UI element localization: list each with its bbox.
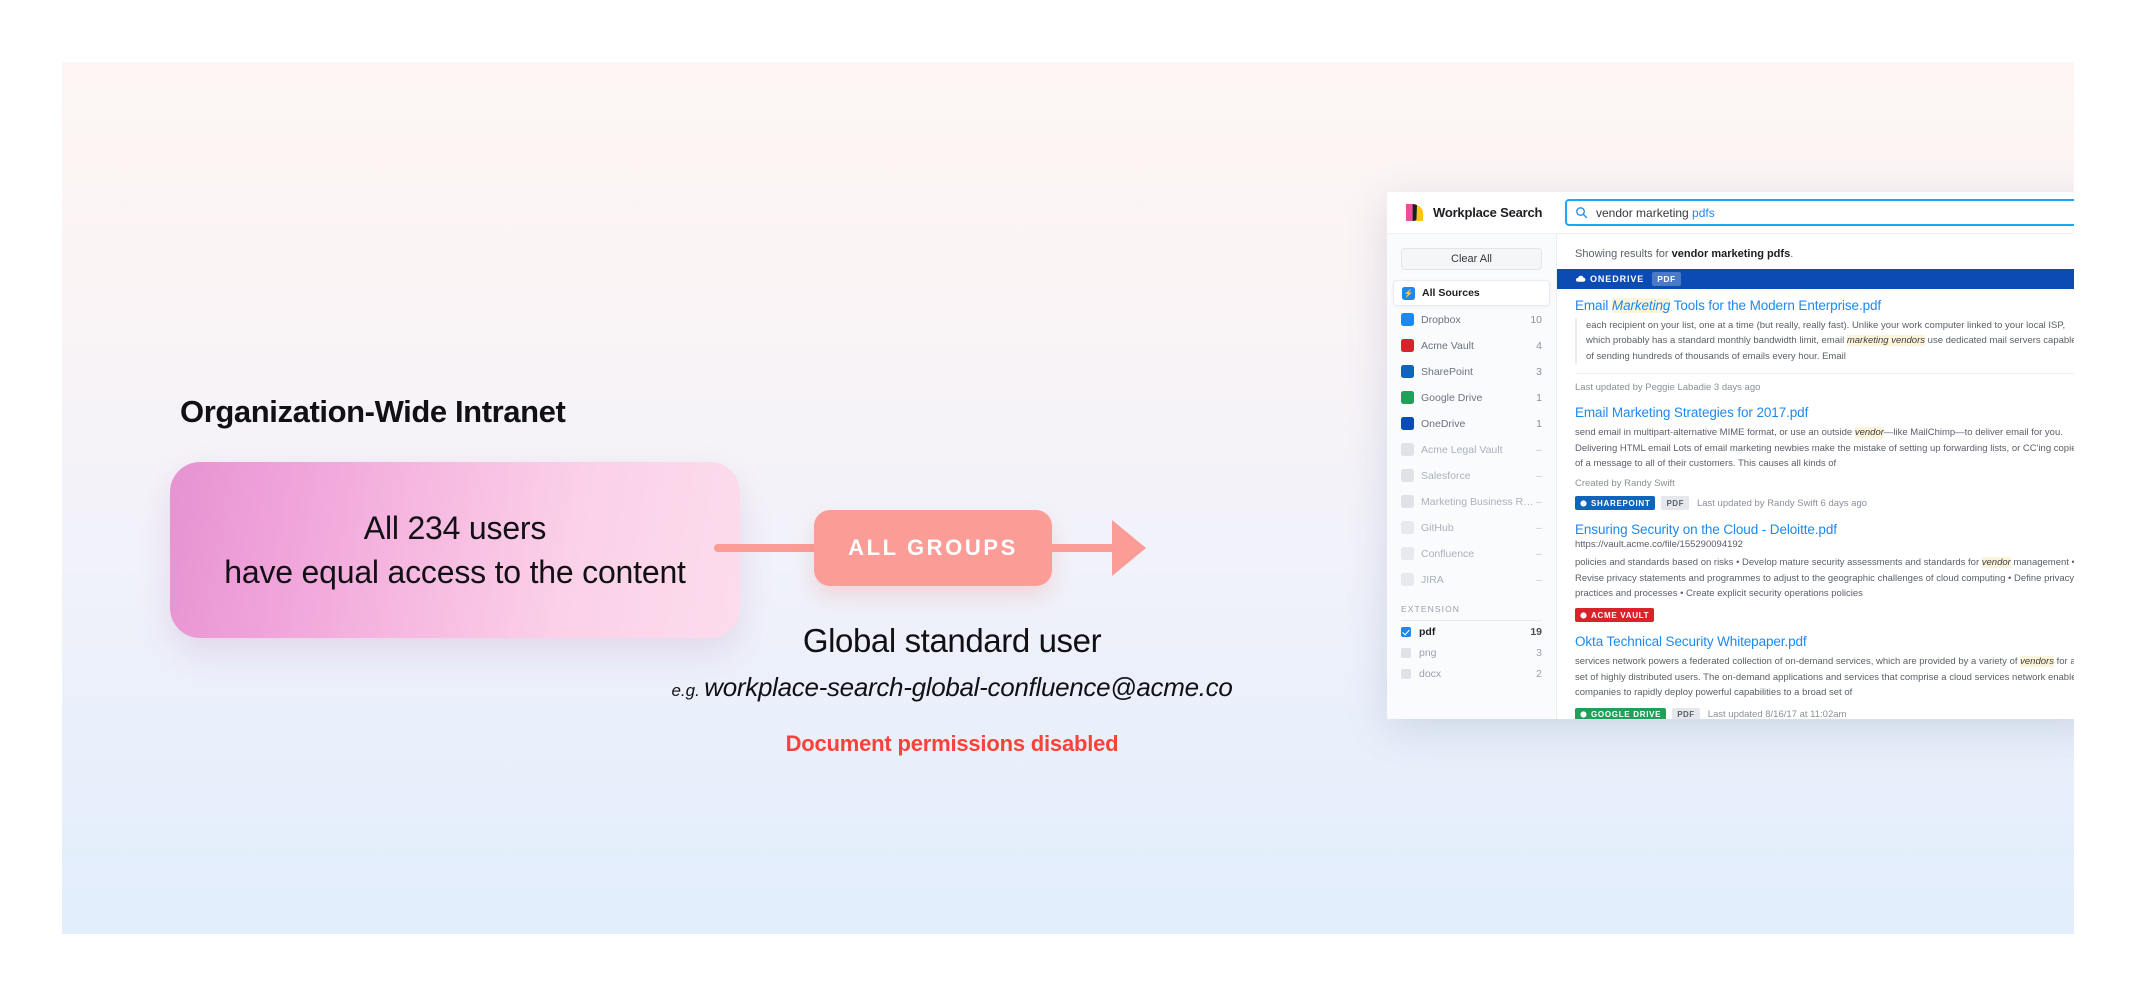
org-access-users-line: All 234 users — [364, 510, 546, 547]
snippet-highlight: vendor — [1855, 427, 1884, 438]
showing-results-text: Showing results for vendor marketing pdf… — [1575, 248, 2074, 260]
search-input[interactable]: vendor marketing pdfs — [1565, 199, 2074, 226]
result-card[interactable]: Email Marketing Strategies for 2017.pdfs… — [1575, 405, 2074, 510]
snippet-highlight: vendors — [2020, 656, 2054, 667]
clear-all-button[interactable]: Clear All — [1401, 248, 1542, 270]
extension-filter-png[interactable]: png3 — [1387, 642, 1556, 663]
result-footer: Last updated by Peggie Labadie 3 days ag… — [1575, 373, 2074, 393]
snippet-highlight: marketing vendors — [1847, 335, 1925, 346]
extension-label: pdf — [1419, 626, 1530, 638]
source-filter-list: Dropbox10Acme Vault4SharePoint3Google Dr… — [1387, 307, 1556, 592]
permissions-diagram: Organization-Wide Intranet All 234 users… — [62, 62, 1402, 934]
source-count: – — [1536, 574, 1542, 586]
search-value-keyword: pdfs — [1692, 206, 1715, 220]
checkbox-icon[interactable] — [1401, 669, 1411, 679]
source-count: – — [1536, 444, 1542, 456]
result-hero-banner: ONEDRIVEPDF — [1557, 269, 2074, 289]
github-icon — [1401, 521, 1414, 534]
org-access-box: All 234 users have equal access to the c… — [170, 462, 740, 638]
source-count: 4 — [1536, 340, 1542, 352]
sidebar-item-dropbox[interactable]: Dropbox10 — [1387, 307, 1556, 332]
source-label: Confluence — [1421, 548, 1536, 560]
flow-arrow: ALL GROUPS — [714, 492, 1194, 604]
result-snippet: send email in multipart-alternative MIME… — [1575, 425, 2074, 471]
result-card[interactable]: Okta Technical Security Whitepaper.pdfse… — [1575, 634, 2074, 719]
hero-type-badge: PDF — [1652, 272, 1681, 286]
eg-label: e.g. — [671, 681, 699, 700]
title-highlight: Marketing — [1612, 298, 1670, 313]
sidebar-item-jira[interactable]: JIRA– — [1387, 567, 1556, 592]
source-count: – — [1536, 548, 1542, 560]
source-count: 1 — [1536, 418, 1542, 430]
result-meta-row: ACME VAULT — [1575, 608, 2074, 622]
sidebar-item-onedrive[interactable]: OneDrive1 — [1387, 411, 1556, 436]
source-tag-acmevault: ACME VAULT — [1575, 608, 1654, 622]
source-label: Acme Legal Vault — [1421, 444, 1536, 456]
global-user-block: Global standard user e.g. workplace-sear… — [622, 622, 1282, 757]
source-tag-gdrive: GOOGLE DRIVE — [1575, 708, 1666, 720]
sidebar-item-sharepoint[interactable]: SharePoint3 — [1387, 359, 1556, 384]
source-label: Salesforce — [1421, 470, 1536, 482]
result-type-badge: PDF — [1672, 708, 1700, 720]
salesforce-icon — [1401, 469, 1414, 482]
result-card[interactable]: ONEDRIVEPDFEmail Marketing Tools for the… — [1575, 269, 2074, 393]
extension-filter-docx[interactable]: docx2 — [1387, 663, 1556, 684]
showing-suffix: . — [1790, 248, 1793, 260]
sidebar-item-acme-legal-vault[interactable]: Acme Legal Vault– — [1387, 437, 1556, 462]
result-created-by: Created by Randy Swift — [1575, 478, 2074, 489]
extension-count: 2 — [1536, 668, 1542, 680]
source-count: – — [1536, 496, 1542, 508]
sharepoint-icon — [1401, 365, 1414, 378]
extension-label: png — [1419, 647, 1536, 659]
source-count: 3 — [1536, 366, 1542, 378]
search-input-value: vendor marketing pdfs — [1596, 206, 1715, 220]
source-label: Google Drive — [1421, 392, 1536, 404]
result-title-link[interactable]: Okta Technical Security Whitepaper.pdf — [1575, 634, 2074, 649]
showing-query: vendor marketing pdfs — [1672, 248, 1791, 260]
all-sources-label: All Sources — [1422, 287, 1549, 299]
sidebar-item-confluence[interactable]: Confluence– — [1387, 541, 1556, 566]
source-tag-sharepoint: SHAREPOINT — [1575, 496, 1655, 510]
brand-name: Workplace Search — [1433, 205, 1542, 220]
global-user-email-row: e.g. workplace-search-global-confluence@… — [622, 672, 1282, 703]
global-user-title: Global standard user — [622, 622, 1282, 660]
checkbox-icon[interactable] — [1401, 648, 1411, 658]
all-groups-pill: ALL GROUPS — [814, 510, 1052, 586]
sidebar-item-google-drive[interactable]: Google Drive1 — [1387, 385, 1556, 410]
result-list: ONEDRIVEPDFEmail Marketing Tools for the… — [1575, 269, 2074, 719]
gdrive-icon — [1401, 391, 1414, 404]
sharepoint-icon — [1580, 500, 1587, 507]
result-snippet: services network powers a federated coll… — [1575, 654, 2074, 700]
dropbox-icon — [1401, 313, 1414, 326]
arrow-head-icon — [1112, 520, 1146, 576]
workplace-search-window: Workplace Search vendor marketing pdfs C… — [1387, 192, 2074, 719]
result-meta-row: GOOGLE DRIVEPDFLast updated 8/16/17 at 1… — [1575, 708, 2074, 720]
permissions-disabled-note: Document permissions disabled — [622, 731, 1282, 757]
source-count: 10 — [1530, 314, 1542, 326]
result-snippet: each recipient on your list, one at a ti… — [1575, 318, 2074, 364]
source-label: Acme Vault — [1421, 340, 1536, 352]
confluence-icon — [1401, 547, 1414, 560]
elastic-logo-icon — [1405, 203, 1424, 222]
source-label: JIRA — [1421, 574, 1536, 586]
extension-filter-pdf[interactable]: pdf19 — [1387, 621, 1556, 642]
result-card[interactable]: Ensuring Security on the Cloud - Deloitt… — [1575, 522, 2074, 622]
sidebar-item-salesforce[interactable]: Salesforce– — [1387, 463, 1556, 488]
global-user-email: workplace-search-global-confluence@acme.… — [704, 672, 1232, 702]
illustration-canvas: Organization-Wide Intranet All 234 users… — [62, 62, 2074, 934]
source-label: SharePoint — [1421, 366, 1536, 378]
source-label: Marketing Business Re... — [1421, 496, 1536, 508]
result-title-link[interactable]: Ensuring Security on the Cloud - Deloitt… — [1575, 522, 2074, 537]
extension-section-header: EXTENSION — [1401, 604, 1542, 621]
result-last-updated: Last updated by Randy Swift 6 days ago — [1697, 498, 1867, 509]
result-snippet: policies and standards based on risks • … — [1575, 555, 2074, 601]
org-access-description-line: have equal access to the content — [224, 554, 685, 591]
result-title-link[interactable]: Email Marketing Strategies for 2017.pdf — [1575, 405, 2074, 420]
result-meta-row: SHAREPOINTPDFLast updated by Randy Swift… — [1575, 496, 2074, 510]
sidebar-item-github[interactable]: GitHub– — [1387, 515, 1556, 540]
lightning-icon: ⚡ — [1402, 287, 1415, 300]
checkbox-icon[interactable] — [1401, 627, 1411, 637]
filters-sidebar: Clear All ⚡ All Sources Dropbox10Acme Va… — [1387, 234, 1557, 719]
result-type-badge: PDF — [1661, 496, 1689, 510]
gdrive-icon — [1580, 711, 1587, 718]
onedrive-icon — [1401, 417, 1414, 430]
acme-vault-icon — [1401, 339, 1414, 352]
sidebar-item-marketing-business-re[interactable]: Marketing Business Re...– — [1387, 489, 1556, 514]
source-label: GitHub — [1421, 522, 1536, 534]
all-groups-label: ALL GROUPS — [848, 535, 1018, 561]
sidebar-item-all-sources[interactable]: ⚡ All Sources — [1393, 280, 1550, 306]
sidebar-item-acme-vault[interactable]: Acme Vault4 — [1387, 333, 1556, 358]
intranet-title: Organization-Wide Intranet — [180, 394, 565, 430]
app-topbar: Workplace Search vendor marketing pdfs — [1387, 192, 2074, 234]
result-last-updated: Last updated 8/16/17 at 11:02am — [1708, 709, 1847, 719]
source-count: 1 — [1536, 392, 1542, 404]
report-icon — [1401, 495, 1414, 508]
brand: Workplace Search — [1387, 203, 1557, 222]
extension-filter-list: pdf19png3docx2 — [1387, 621, 1556, 684]
search-results-panel: Showing results for vendor marketing pdf… — [1557, 234, 2074, 719]
extension-label: docx — [1419, 668, 1536, 680]
search-icon — [1575, 206, 1588, 219]
result-title-link[interactable]: Email Marketing Tools for the Modern Ent… — [1575, 298, 2074, 313]
source-label: Dropbox — [1421, 314, 1530, 326]
acme-vault-icon — [1401, 443, 1414, 456]
app-body: Clear All ⚡ All Sources Dropbox10Acme Va… — [1387, 234, 2074, 719]
search-value-plain: vendor marketing — [1596, 206, 1692, 220]
source-label: OneDrive — [1421, 418, 1536, 430]
jira-icon — [1401, 573, 1414, 586]
source-count: – — [1536, 522, 1542, 534]
onedrive-cloud-icon — [1575, 275, 1586, 283]
source-count: – — [1536, 470, 1542, 482]
extension-count: 19 — [1530, 626, 1542, 638]
result-url[interactable]: https://vault.acme.co/file/155290094192 — [1575, 539, 2074, 550]
extension-count: 3 — [1536, 647, 1542, 659]
showing-prefix: Showing results for — [1575, 248, 1672, 260]
snippet-highlight: vendor — [1982, 557, 2011, 568]
acme-vault-icon — [1580, 612, 1587, 619]
hero-source-label: ONEDRIVE — [1575, 274, 1644, 284]
